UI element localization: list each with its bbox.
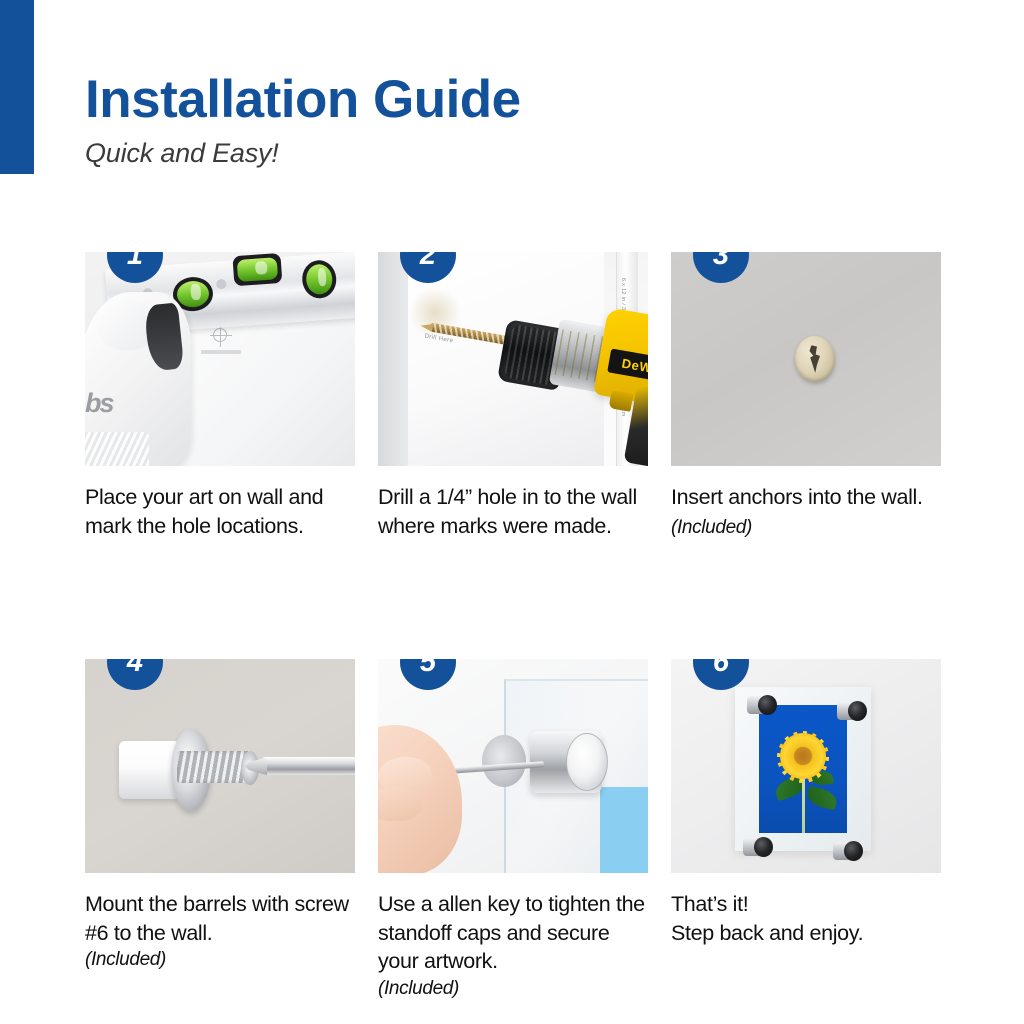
level-on-wall-photo: bs 1 (85, 252, 355, 466)
glove-cuff (85, 432, 149, 466)
wall-anchor-shape (793, 335, 836, 384)
art-panel-label (201, 350, 241, 354)
step-caption-3: Insert anchors into the wall. (Included) (671, 483, 941, 540)
page-subtitle: Quick and Easy! (85, 138, 521, 169)
standoff-bottom-right (833, 841, 863, 861)
standoff-barrel-shape (119, 741, 177, 799)
installation-guide-page: Installation Guide Quick and Easy! (0, 0, 1024, 1024)
step-caption-2: Drill a 1/4” hole in to the wall where m… (378, 483, 648, 540)
page-title: Installation Guide (85, 72, 521, 128)
standoff-top-right (837, 701, 867, 721)
drill-trigger (609, 390, 634, 412)
step-badge-3: 3 (693, 252, 749, 283)
standoff-cap-face (566, 733, 608, 791)
step-card-4: 4 Mount the barrels with screw #6 to the… (85, 659, 355, 1001)
sunflower-artwork (759, 705, 847, 833)
steps-grid: bs 1 Place your art on wall and mark the… (85, 252, 941, 1001)
thumb (378, 787, 422, 821)
step-caption-5: Use a allen key to tighten the standoff … (378, 890, 648, 1001)
step-card-6: 6 That’s it! Step back and enjoy. (671, 659, 941, 1001)
step-caption-4-text: Mount the barrels with screw #6 to the w… (85, 892, 349, 945)
sunflower-center (780, 733, 826, 779)
standoff-top-left (747, 695, 777, 715)
step-included-note-4: (Included) (85, 947, 355, 972)
finished-frame-photo: 6 (671, 659, 941, 873)
step-caption-3-text: Insert anchors into the wall. (671, 485, 923, 509)
allen-key-tighten-photo: 5 (378, 659, 648, 873)
level-screw-mid (216, 279, 227, 290)
wall-anchor-photo: 3 (671, 252, 941, 466)
anchor-slot-opening (806, 345, 823, 374)
step-card-5: 5 Use a allen key to tighten the standof… (378, 659, 648, 1001)
step-card-1: bs 1 Place your art on wall and mark the… (85, 252, 355, 540)
sunflower-stem (802, 775, 805, 833)
standoff-wall-plate (482, 735, 526, 787)
barrel-and-screw-photo: 4 (85, 659, 355, 873)
sunflower-leaf-right (805, 786, 838, 811)
step-badge-5: 5 (400, 659, 456, 690)
drill-brand-label: DeWALT (607, 348, 648, 386)
drill-into-wall-photo: 6 x 12 in / 30.5 x 15 cm 12 x 15 in / 30… (378, 252, 648, 466)
standoff-bottom-left (743, 837, 773, 857)
header: Installation Guide Quick and Easy! (85, 72, 521, 169)
step-caption-6: That’s it! Step back and enjoy. (671, 890, 941, 947)
step-included-note-5: (Included) (378, 976, 648, 1001)
step-badge-6: 6 (693, 659, 749, 690)
glove-logo-text: bs (85, 388, 147, 418)
step-caption-4: Mount the barrels with screw #6 to the w… (85, 890, 355, 972)
step-caption-5-text: Use a allen key to tighten the standoff … (378, 892, 645, 973)
phillips-screwdriver-shape (263, 757, 355, 775)
header-accent-bar (0, 0, 34, 174)
level-vial-right (301, 259, 338, 299)
step-caption-1: Place your art on wall and mark the hole… (85, 483, 355, 540)
step-card-3: 3 Insert anchors into the wall. (Include… (671, 252, 941, 540)
step-included-note-3: (Included) (671, 517, 752, 538)
level-vial-center (232, 253, 282, 286)
artwork-blue-edge (600, 787, 648, 873)
registration-mark-icon (213, 328, 227, 342)
hand-shape (378, 725, 462, 873)
step-badge-4: 4 (107, 659, 163, 690)
step-card-2: 6 x 12 in / 30.5 x 15 cm 12 x 15 in / 30… (378, 252, 648, 540)
